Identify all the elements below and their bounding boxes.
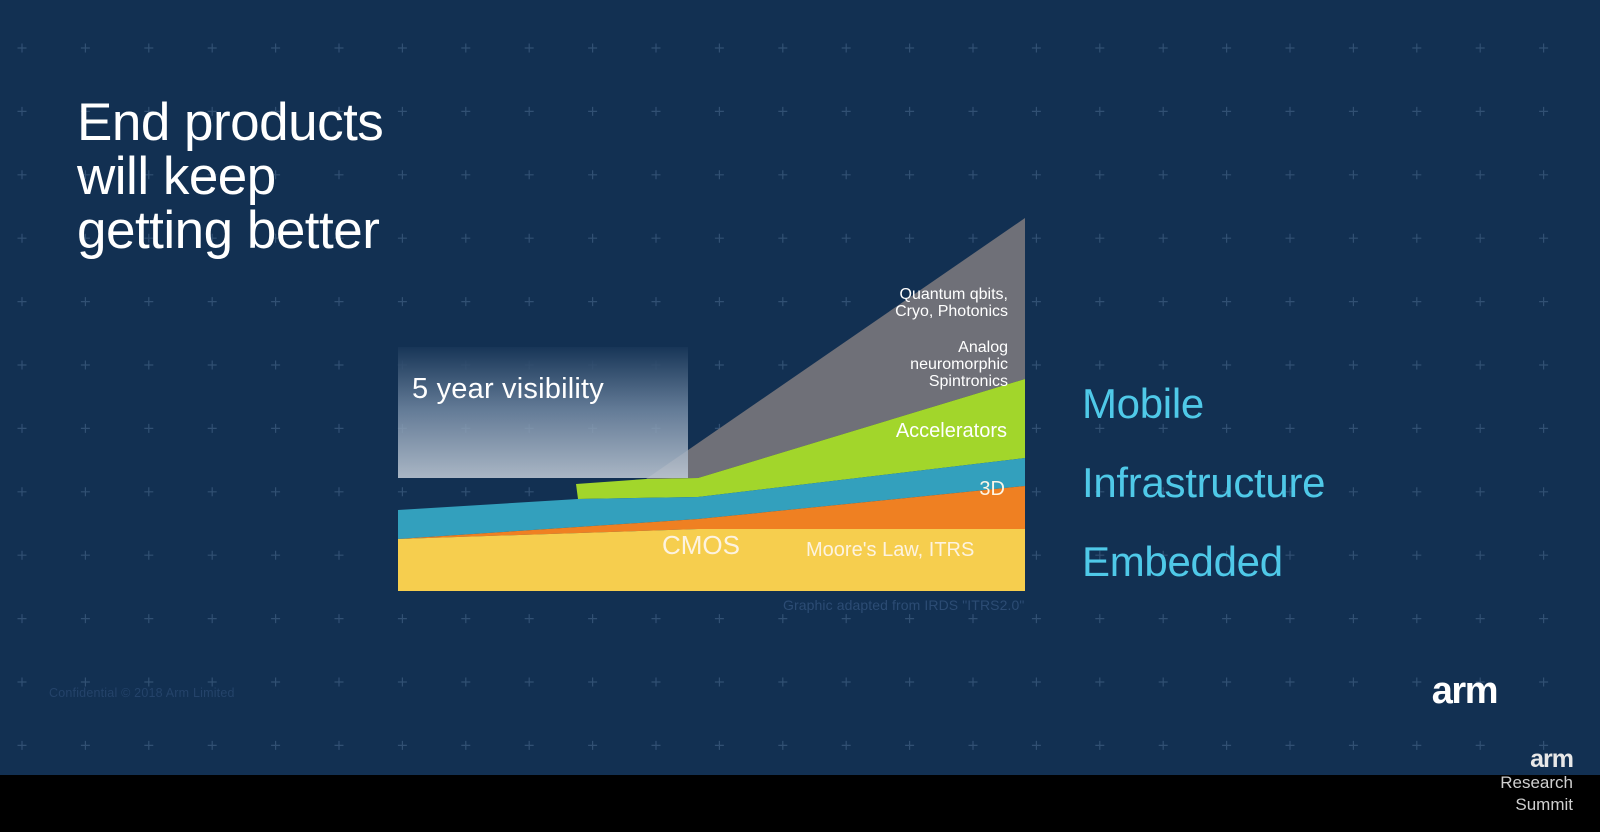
summit-line-summit: Summit bbox=[1500, 794, 1573, 816]
segment-infrastructure: Infrastructure bbox=[1082, 443, 1542, 522]
slide-canvas: End products will keep getting better Qu… bbox=[0, 0, 1600, 775]
summit-line-research: Research bbox=[1500, 772, 1573, 794]
chart-source-caption: Graphic adapted from IRDS "ITRS2.0" bbox=[783, 597, 1024, 613]
confidential-notice: Confidential © 2018 Arm Limited bbox=[49, 686, 235, 700]
page-title: End products will keep getting better bbox=[77, 96, 383, 258]
market-segment-list: Mobile Infrastructure Embedded bbox=[1082, 364, 1542, 601]
arm-research-summit-branding: arm Research Summit bbox=[1500, 746, 1573, 816]
five-year-visibility-label: 5 year visibility bbox=[412, 373, 604, 405]
bottom-bar bbox=[0, 775, 1600, 832]
summit-arm-logo: arm bbox=[1500, 746, 1573, 772]
segment-embedded: Embedded bbox=[1082, 522, 1542, 601]
segment-mobile: Mobile bbox=[1082, 364, 1542, 443]
area-cmos bbox=[398, 529, 1025, 591]
arm-logo: arm bbox=[1432, 672, 1497, 710]
